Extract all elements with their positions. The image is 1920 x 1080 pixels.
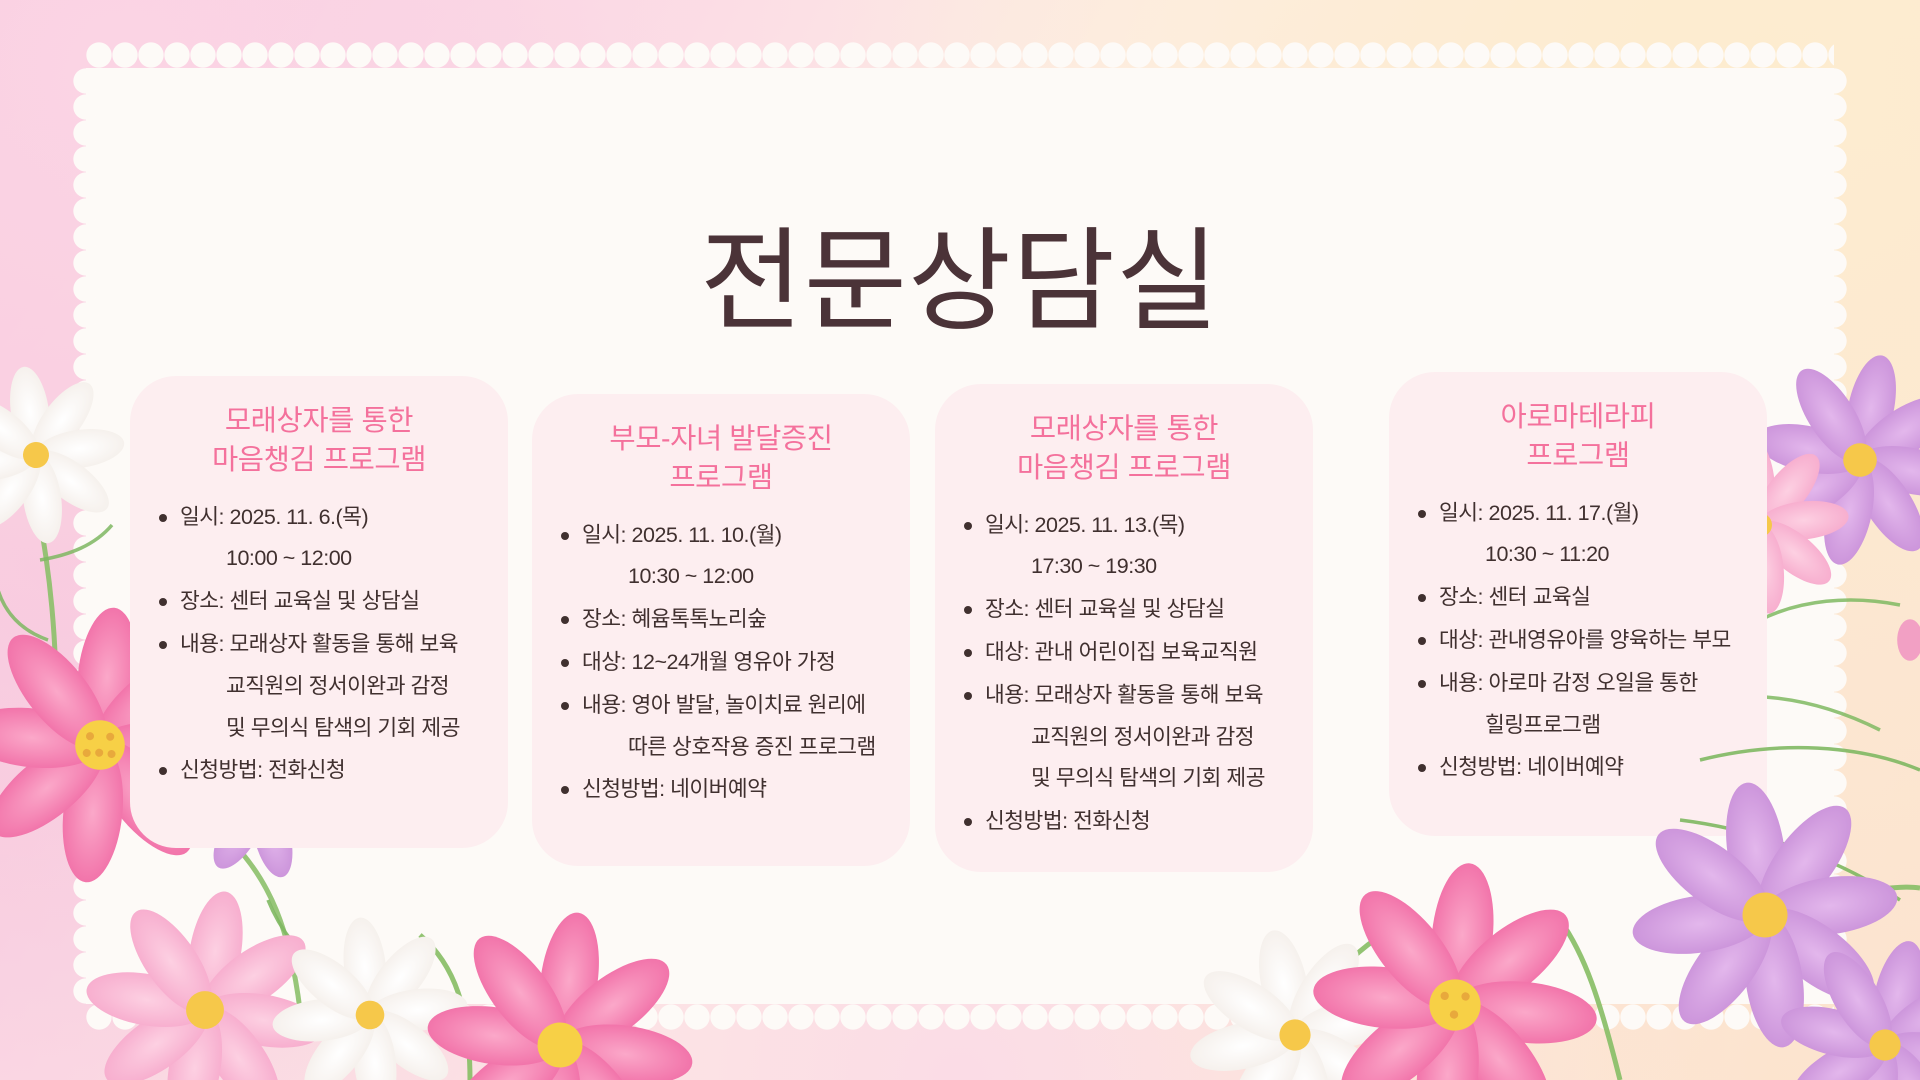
detail-label: 신청방법: <box>1439 755 1522 779</box>
program-detail-item: 장소: 혜윰톡톡노리숲 <box>548 605 894 634</box>
program-detail-item: 장소: 센터 교육실 및 상담실 <box>146 587 492 616</box>
detail-value-continued: 및 무의식 탐색의 기회 제공 <box>985 764 1297 793</box>
program-detail-item: 일시: 2025. 11. 17.(월)10:30 ~ 11:20 <box>1405 499 1751 570</box>
program-detail-item: 일시: 2025. 11. 10.(월)10:30 ~ 12:00 <box>548 521 894 592</box>
detail-value: 전화신청 <box>268 758 345 782</box>
program-card-title: 모래상자를 통한 마음챙김 프로그램 <box>146 402 492 481</box>
detail-label: 장소: <box>985 597 1029 621</box>
detail-value: 모래상자 활동을 통해 보육 <box>1035 683 1264 707</box>
program-detail-item: 대상: 12~24개월 영유아 가정 <box>548 648 894 677</box>
detail-value-continued: 따른 상호작용 증진 프로그램 <box>582 733 894 762</box>
detail-label: 신청방법: <box>180 758 263 782</box>
detail-value: 2025. 11. 6.(목) <box>230 505 369 529</box>
detail-label: 장소: <box>1439 585 1483 609</box>
detail-value-continued: 교직원의 정서이완과 감정 <box>180 672 492 701</box>
detail-value-continued: 17:30 ~ 19:30 <box>985 552 1297 581</box>
program-card: 부모-자녀 발달증진 프로그램일시: 2025. 11. 10.(월)10:30… <box>532 394 910 866</box>
detail-value: 12~24개월 영유아 가정 <box>632 650 836 674</box>
program-detail-item: 신청방법: 네이버예약 <box>1405 753 1751 782</box>
program-card-title: 부모-자녀 발달증진 프로그램 <box>548 420 894 499</box>
program-detail-item: 신청방법: 전화신청 <box>146 756 492 785</box>
program-detail-item: 내용: 모래상자 활동을 통해 보육교직원의 정서이완과 감정및 무의식 탐색의… <box>146 630 492 742</box>
program-detail-item: 대상: 관내 어린이집 보육교직원 <box>951 638 1297 667</box>
detail-label: 대상: <box>985 640 1029 664</box>
detail-value: 관내 어린이집 보육교직원 <box>1035 640 1258 664</box>
detail-label: 신청방법: <box>582 777 665 801</box>
program-detail-list: 일시: 2025. 11. 13.(목)17:30 ~ 19:30장소: 센터 … <box>951 511 1297 836</box>
program-detail-item: 일시: 2025. 11. 13.(목)17:30 ~ 19:30 <box>951 511 1297 582</box>
detail-label: 내용: <box>985 683 1029 707</box>
program-detail-item: 대상: 관내영유아를 양육하는 부모 <box>1405 626 1751 655</box>
program-detail-item: 장소: 센터 교육실 및 상담실 <box>951 595 1297 624</box>
detail-label: 내용: <box>180 632 224 656</box>
program-card: 모래상자를 통한 마음챙김 프로그램일시: 2025. 11. 6.(목)10:… <box>130 376 508 848</box>
detail-value: 2025. 11. 13.(목) <box>1035 513 1185 537</box>
stamp-scallop-top <box>86 42 1834 68</box>
detail-value: 2025. 11. 10.(월) <box>632 523 782 547</box>
program-card-title: 모래상자를 통한 마음챙김 프로그램 <box>951 410 1297 489</box>
program-card: 아로마테라피 프로그램일시: 2025. 11. 17.(월)10:30 ~ 1… <box>1389 372 1767 836</box>
program-detail-item: 장소: 센터 교육실 <box>1405 583 1751 612</box>
detail-label: 대상: <box>1439 628 1483 652</box>
detail-value: 네이버예약 <box>670 777 766 801</box>
stamp-scallop-bottom <box>86 1004 1834 1030</box>
detail-label: 내용: <box>1439 671 1483 695</box>
detail-value: 모래상자 활동을 통해 보육 <box>230 632 459 656</box>
detail-value-continued: 및 무의식 탐색의 기회 제공 <box>180 714 492 743</box>
detail-value-continued: 10:00 ~ 12:00 <box>180 544 492 573</box>
program-detail-item: 신청방법: 전화신청 <box>951 807 1297 836</box>
program-detail-list: 일시: 2025. 11. 6.(목)10:00 ~ 12:00장소: 센터 교… <box>146 503 492 786</box>
page-title: 전문상담실 <box>0 223 1920 341</box>
detail-value: 센터 교육실 및 상담실 <box>1035 597 1225 621</box>
detail-value-continued: 10:30 ~ 12:00 <box>582 562 894 591</box>
program-detail-item: 일시: 2025. 11. 6.(목)10:00 ~ 12:00 <box>146 503 492 574</box>
detail-value: 네이버예약 <box>1527 755 1623 779</box>
program-card-list: 모래상자를 통한 마음챙김 프로그램일시: 2025. 11. 6.(목)10:… <box>130 360 1790 920</box>
poster-canvas: 전문상담실 모래상자를 통한 마음챙김 프로그램일시: 2025. 11. 6.… <box>0 0 1920 1080</box>
detail-value: 혜윰톡톡노리숲 <box>632 607 767 631</box>
detail-value: 관내영유아를 양육하는 부모 <box>1489 628 1731 652</box>
detail-value-continued: 교직원의 정서이완과 감정 <box>985 723 1297 752</box>
detail-value-continued: 힐링프로그램 <box>1439 711 1751 740</box>
program-card-title: 아로마테라피 프로그램 <box>1405 398 1751 477</box>
program-detail-list: 일시: 2025. 11. 10.(월)10:30 ~ 12:00장소: 혜윰톡… <box>548 521 894 805</box>
program-detail-item: 내용: 아로마 감정 오일을 통한힐링프로그램 <box>1405 669 1751 740</box>
detail-value: 아로마 감정 오일을 통한 <box>1489 671 1698 695</box>
detail-label: 일시: <box>582 523 626 547</box>
program-detail-item: 신청방법: 네이버예약 <box>548 775 894 804</box>
detail-label: 신청방법: <box>985 809 1068 833</box>
program-detail-item: 내용: 영아 발달, 놀이치료 원리에따른 상호작용 증진 프로그램 <box>548 691 894 762</box>
detail-label: 대상: <box>582 650 626 674</box>
detail-value-continued: 10:30 ~ 11:20 <box>1439 540 1751 569</box>
detail-label: 일시: <box>180 505 224 529</box>
detail-value: 센터 교육실 <box>1489 585 1591 609</box>
detail-value: 센터 교육실 및 상담실 <box>230 589 420 613</box>
detail-value: 전화신청 <box>1073 809 1150 833</box>
detail-value: 2025. 11. 17.(월) <box>1489 501 1639 525</box>
program-detail-item: 내용: 모래상자 활동을 통해 보육교직원의 정서이완과 감정및 무의식 탐색의… <box>951 681 1297 793</box>
cosmos-bud <box>1897 619 1920 661</box>
detail-label: 일시: <box>1439 501 1483 525</box>
detail-label: 내용: <box>582 693 626 717</box>
detail-label: 장소: <box>180 589 224 613</box>
detail-value: 영아 발달, 놀이치료 원리에 <box>632 693 866 717</box>
program-card: 모래상자를 통한 마음챙김 프로그램일시: 2025. 11. 13.(목)17… <box>935 384 1313 872</box>
program-detail-list: 일시: 2025. 11. 17.(월)10:30 ~ 11:20장소: 센터 … <box>1405 499 1751 783</box>
detail-label: 장소: <box>582 607 626 631</box>
detail-label: 일시: <box>985 513 1029 537</box>
